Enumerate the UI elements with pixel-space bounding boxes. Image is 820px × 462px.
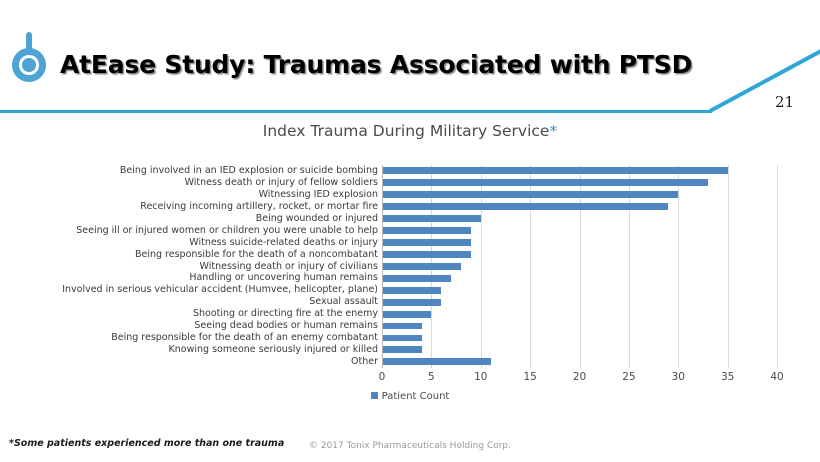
category-label: Witness death or injury of fellow soldie… bbox=[10, 177, 378, 189]
gridline-40 bbox=[777, 165, 778, 368]
x-tick-label: 5 bbox=[411, 371, 451, 383]
bar[interactable] bbox=[382, 215, 481, 222]
category-label: Being responsible for the death of an en… bbox=[10, 332, 378, 344]
bar-row bbox=[382, 284, 777, 296]
chart-category-labels: Being involved in an IED explosion or su… bbox=[10, 165, 378, 368]
chart-bars bbox=[382, 165, 777, 368]
x-tick-label: 25 bbox=[609, 371, 649, 383]
bar-row bbox=[382, 237, 777, 249]
slide: AtEase Study: Traumas Associated with PT… bbox=[0, 0, 820, 462]
category-label: Seeing ill or injured women or children … bbox=[10, 225, 378, 237]
bar-row bbox=[382, 213, 777, 225]
category-label: Being wounded or injured bbox=[10, 213, 378, 225]
bar[interactable] bbox=[382, 335, 422, 342]
bar-row bbox=[382, 225, 777, 237]
bar-row bbox=[382, 177, 777, 189]
category-label: Being involved in an IED explosion or su… bbox=[10, 165, 378, 177]
bar[interactable] bbox=[382, 346, 422, 353]
category-label: Witness suicide-related deaths or injury bbox=[10, 237, 378, 249]
category-label: Seeing dead bodies or human remains bbox=[10, 320, 378, 332]
logo-center-dot bbox=[22, 58, 36, 72]
x-tick-label: 0 bbox=[362, 371, 402, 383]
header-rule-diagonal bbox=[705, 48, 820, 114]
category-label: Receiving incoming artillery, rocket, or… bbox=[10, 201, 378, 213]
bar-row bbox=[382, 201, 777, 213]
x-tick-label: 30 bbox=[658, 371, 698, 383]
chart-title: Index Trauma During Military Service* bbox=[0, 122, 820, 140]
bar[interactable] bbox=[382, 203, 668, 210]
category-label: Knowing someone seriously injured or kil… bbox=[10, 344, 378, 356]
bar-row bbox=[382, 272, 777, 284]
header-rule-horizontal bbox=[0, 110, 712, 113]
bar[interactable] bbox=[382, 191, 678, 198]
bar-row bbox=[382, 296, 777, 308]
bar[interactable] bbox=[382, 287, 441, 294]
category-label: Witnessing death or injury of civilians bbox=[10, 261, 378, 273]
category-label: Involved in serious vehicular accident (… bbox=[10, 284, 378, 296]
bar-row bbox=[382, 356, 777, 368]
page-title: AtEase Study: Traumas Associated with PT… bbox=[60, 50, 692, 79]
x-tick-label: 35 bbox=[708, 371, 748, 383]
x-tick-label: 20 bbox=[560, 371, 600, 383]
legend-label-patient-count: Patient Count bbox=[382, 391, 450, 402]
bar[interactable] bbox=[382, 167, 728, 174]
bar[interactable] bbox=[382, 251, 471, 258]
bar-row bbox=[382, 189, 777, 201]
chart-legend: Patient Count bbox=[0, 391, 820, 403]
category-label: Sexual assault bbox=[10, 296, 378, 308]
bar[interactable] bbox=[382, 239, 471, 246]
bar[interactable] bbox=[382, 179, 708, 186]
bar[interactable] bbox=[382, 299, 441, 306]
company-logo-power-button-icon bbox=[8, 30, 56, 88]
bar[interactable] bbox=[382, 311, 431, 318]
category-label: Shooting or directing fire at the enemy bbox=[10, 308, 378, 320]
chart-y-axis-line bbox=[382, 165, 383, 368]
bar-row bbox=[382, 249, 777, 261]
chart-title-text: Index Trauma During Military Service bbox=[263, 122, 550, 140]
legend-swatch-patient-count bbox=[371, 392, 378, 399]
bar-row bbox=[382, 261, 777, 273]
x-tick-label: 40 bbox=[757, 371, 797, 383]
bar-row bbox=[382, 308, 777, 320]
bar[interactable] bbox=[382, 323, 422, 330]
bar[interactable] bbox=[382, 263, 461, 270]
bar[interactable] bbox=[382, 358, 491, 365]
x-tick-label: 15 bbox=[510, 371, 550, 383]
bar[interactable] bbox=[382, 275, 451, 282]
chart-x-axis-tick-labels: 0510152025303540 bbox=[382, 371, 777, 387]
bar-row bbox=[382, 332, 777, 344]
category-label: Witnessing IED explosion bbox=[10, 189, 378, 201]
chart-title-asterisk: * bbox=[549, 122, 557, 140]
category-label: Handling or uncovering human remains bbox=[10, 272, 378, 284]
bar[interactable] bbox=[382, 227, 471, 234]
copyright-notice: © 2017 Tonix Pharmaceuticals Holding Cor… bbox=[0, 441, 820, 451]
category-label: Being responsible for the death of a non… bbox=[10, 249, 378, 261]
category-label: Other bbox=[10, 356, 378, 368]
bar-row bbox=[382, 344, 777, 356]
chart-plot-area bbox=[382, 165, 777, 368]
page-number: 21 bbox=[775, 93, 794, 111]
slide-header: AtEase Study: Traumas Associated with PT… bbox=[0, 0, 820, 115]
bar-row bbox=[382, 320, 777, 332]
x-tick-label: 10 bbox=[461, 371, 501, 383]
bar-row bbox=[382, 165, 777, 177]
chart-area: Index Trauma During Military Service* Be… bbox=[0, 115, 820, 415]
